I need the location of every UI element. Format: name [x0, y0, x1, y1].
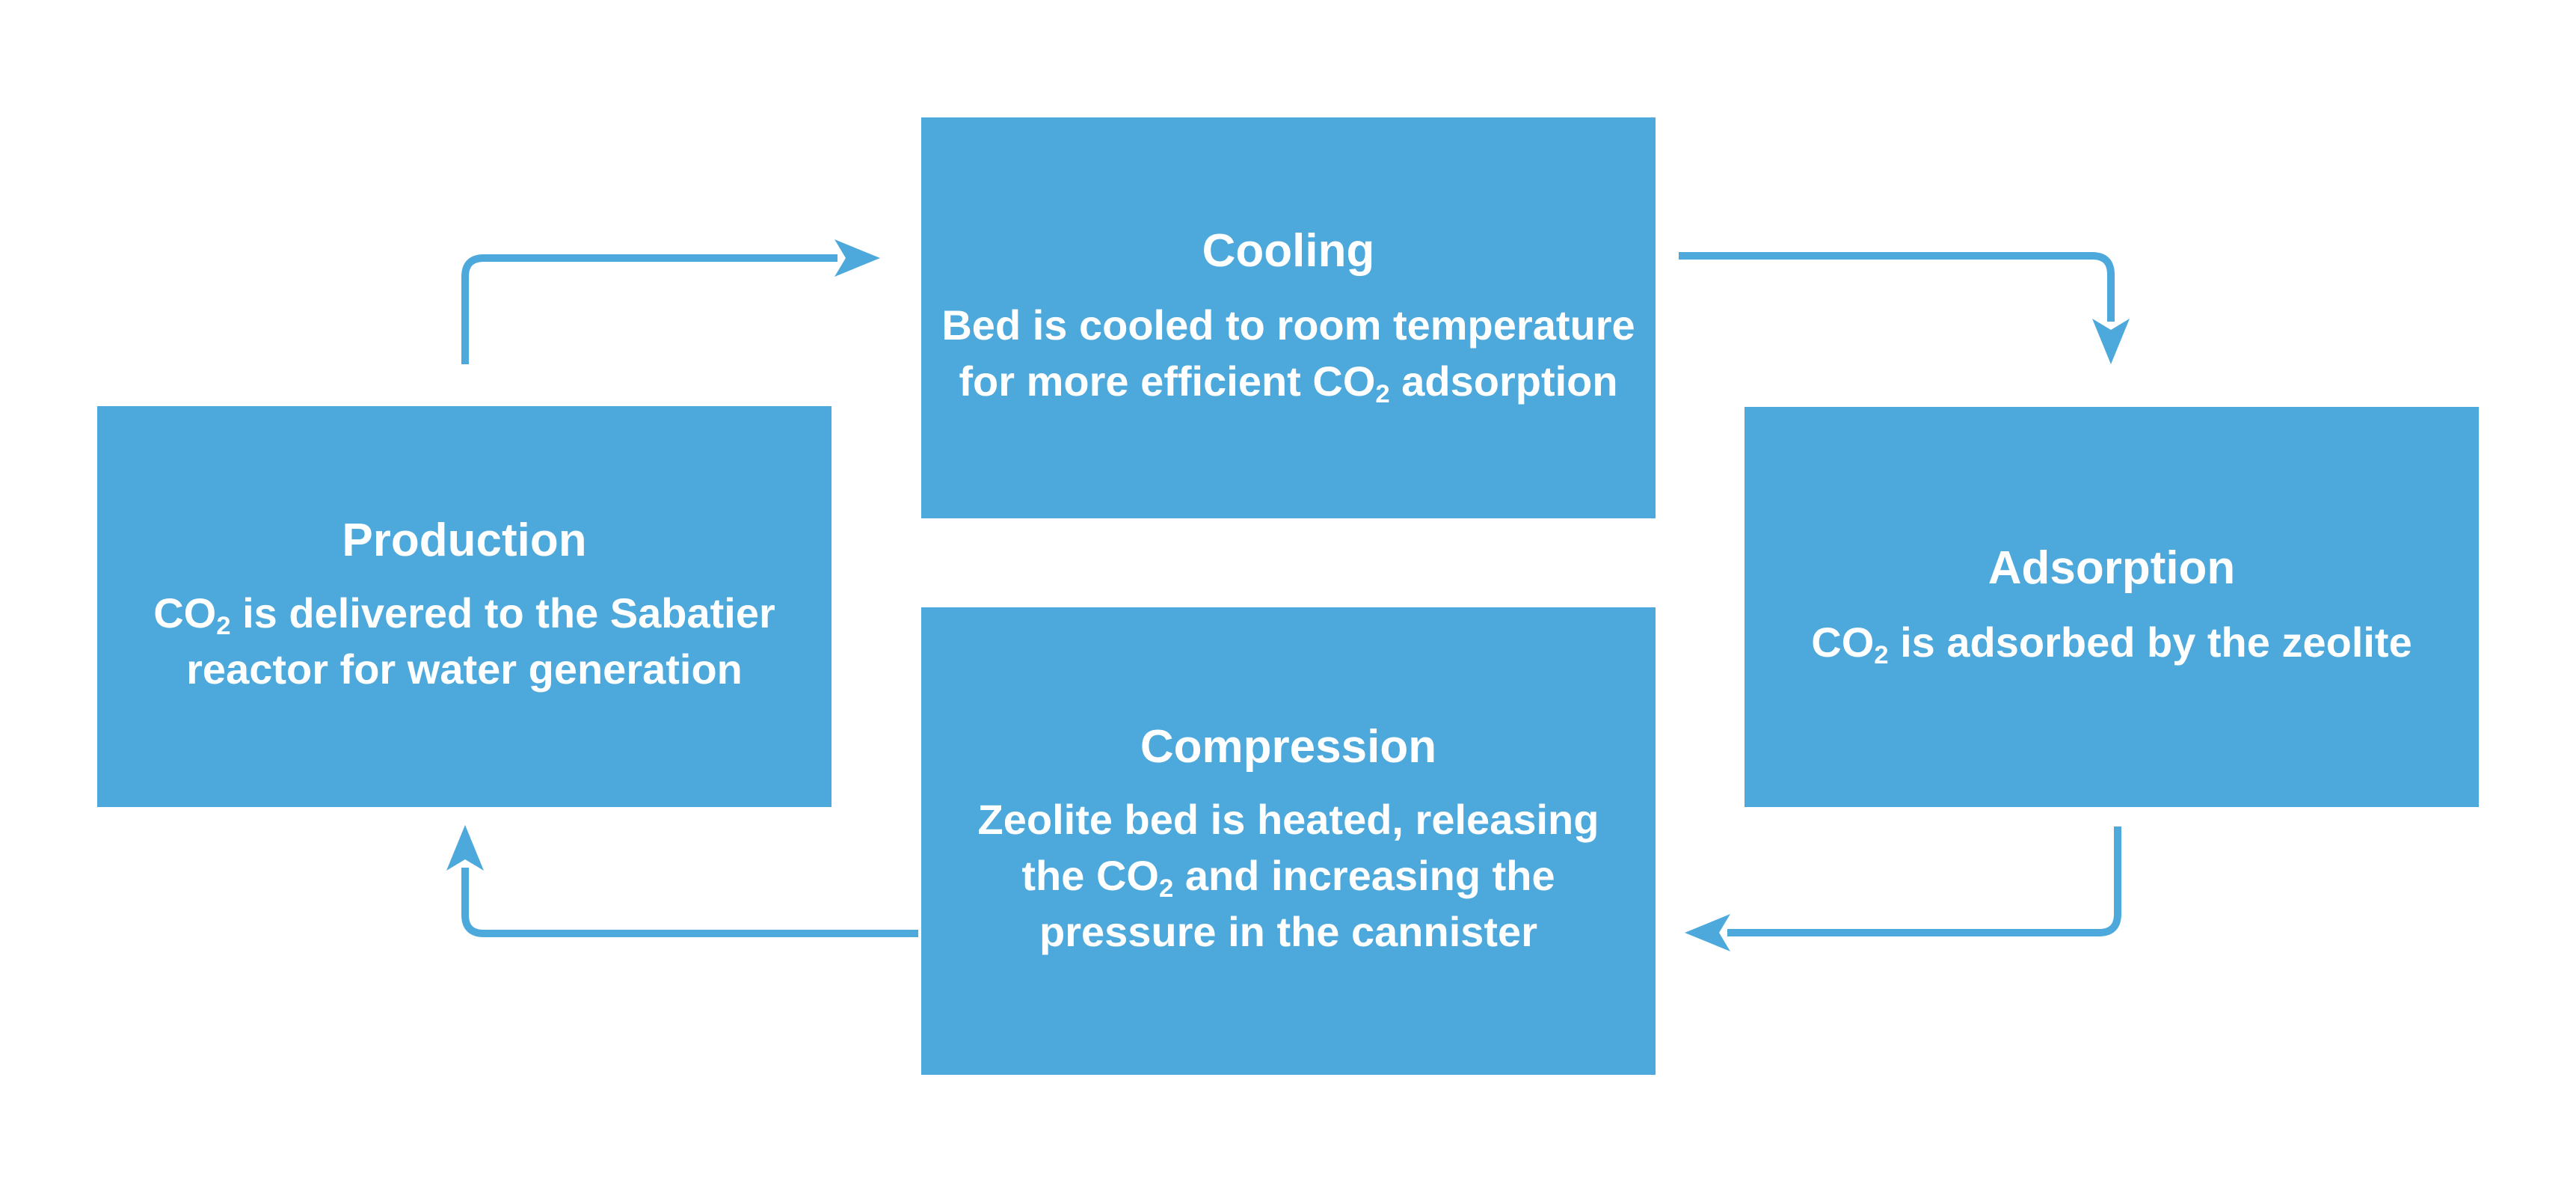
- node-cooling-body: Bed is cooled to room temperature for mo…: [941, 297, 1636, 409]
- node-compression-body: Zeolite bed is heated, releasing the CO2…: [941, 791, 1636, 960]
- arrow-adsorption-to-compression: [1685, 826, 2118, 951]
- node-cooling[interactable]: Cooling Bed is cooled to room temperatur…: [921, 117, 1656, 518]
- node-cooling-body-suffix: adsorption: [1390, 358, 1618, 405]
- node-adsorption-body-suffix: is adsorbed by the zeolite: [1889, 619, 2412, 666]
- node-production[interactable]: Production CO2 is delivered to the Sabat…: [97, 406, 831, 807]
- node-production-body-suffix: is delivered to the Sabatier reactor for…: [186, 589, 775, 693]
- node-adsorption-title: Adsorption: [1988, 544, 2236, 592]
- node-cooling-title: Cooling: [1202, 227, 1375, 275]
- node-compression-body-subscript: 2: [1159, 874, 1173, 903]
- node-production-title: Production: [342, 516, 586, 565]
- arrow-compression-to-production: [446, 825, 918, 933]
- arrow-production-to-cooling: [465, 239, 880, 364]
- node-adsorption-body: CO2 is adsorbed by the zeolite: [1811, 614, 2411, 670]
- node-compression[interactable]: Compression Zeolite bed is heated, relea…: [921, 607, 1656, 1075]
- node-production-body-subscript: 2: [216, 612, 230, 640]
- node-production-body-prefix: CO: [153, 589, 216, 637]
- node-cooling-body-subscript: 2: [1375, 380, 1389, 408]
- node-adsorption-body-prefix: CO: [1811, 619, 1874, 666]
- node-adsorption[interactable]: Adsorption CO2 is adsorbed by the zeolit…: [1745, 407, 2479, 807]
- node-production-body: CO2 is delivered to the Sabatier reactor…: [117, 585, 812, 697]
- diagram-canvas: Production CO2 is delivered to the Sabat…: [0, 0, 2576, 1193]
- node-adsorption-body-subscript: 2: [1874, 641, 1888, 669]
- arrow-cooling-to-adsorption: [1679, 256, 2130, 364]
- node-compression-title: Compression: [1140, 723, 1436, 771]
